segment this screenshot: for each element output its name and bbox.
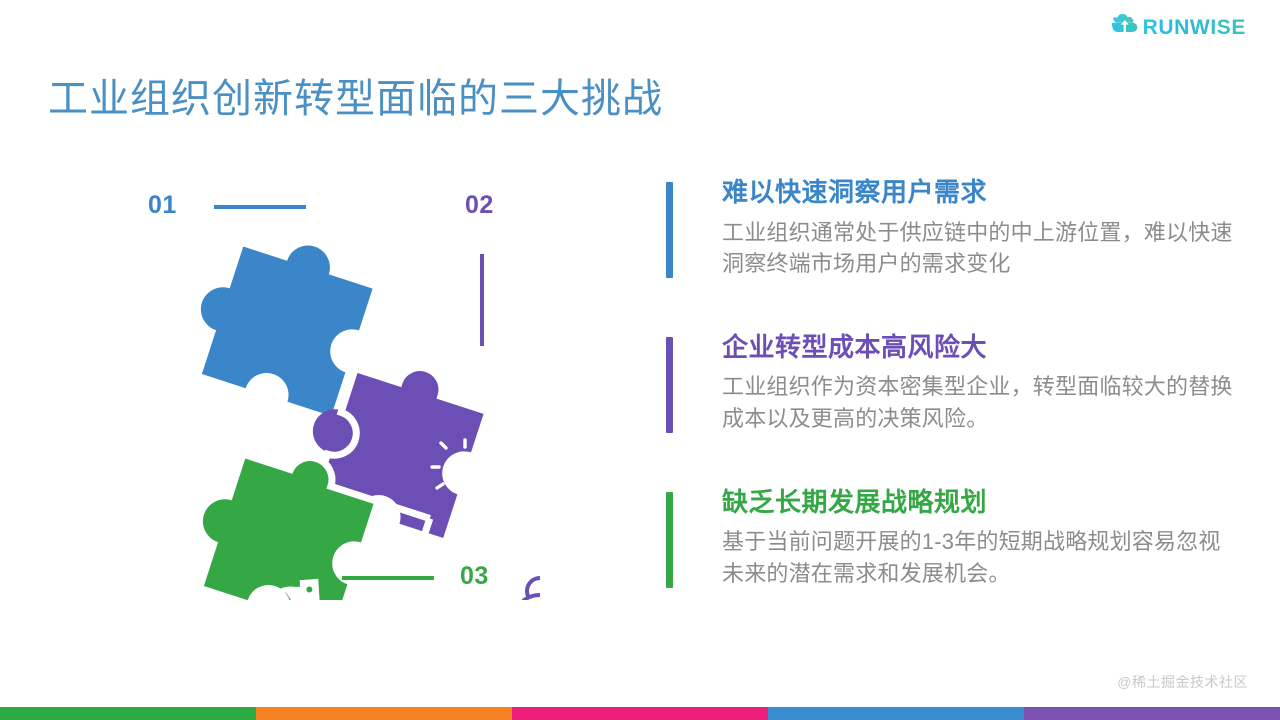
footer-segment-blue [768,707,1024,720]
accent-bar-01 [666,182,673,278]
footer-color-strip [0,707,1280,720]
footer-segment-green [0,707,256,720]
puzzle-number-02: 02 [465,193,494,218]
challenge-body-01: 工业组织通常处于供应链中的中上游位置，难以快速洞察终端市场用户的需求变化 [722,217,1234,279]
challenge-body-02: 工业组织作为资本密集型企业，转型面临较大的替换成本以及更高的决策风险。 [722,371,1234,433]
challenge-item-03: 缺乏长期发展战略规划 基于当前问题开展的1-3年的短期战略规划容易忽视未来的潜在… [666,486,1236,589]
slide: RUNWISE 工业组织创新转型面临的三大挑战 [0,0,1280,720]
accent-bar-02 [666,337,673,433]
challenge-title-01: 难以快速洞察用户需求 [722,176,1236,209]
brand-name: RUNWISE [1143,17,1246,38]
people-group-icon [500,572,540,600]
puzzle-number-01: 01 [148,193,177,218]
puzzle-number-03: 03 [460,564,489,589]
footer-segment-pink [512,707,768,720]
footer-segment-orange [256,707,512,720]
challenge-item-02: 企业转型成本高风险大 工业组织作为资本密集型企业，转型面临较大的替换成本以及更高… [666,331,1236,434]
challenge-title-02: 企业转型成本高风险大 [722,331,1236,364]
puzzle-rule-03 [342,576,434,580]
challenge-list: 难以快速洞察用户需求 工业组织通常处于供应链中的中上游位置，难以快速洞察终端市场… [666,176,1236,589]
footer-segment-purple [1024,707,1280,720]
watermark: @稀土掘金技术社区 [1117,672,1248,692]
accent-bar-03 [666,492,673,588]
puzzle-rule-01 [214,205,306,209]
puzzle-pieces-svg [120,180,540,600]
puzzle-rule-02 [480,254,484,346]
page-title: 工业组织创新转型面临的三大挑战 [48,75,663,123]
cloud-arrow-icon [1109,13,1139,42]
brand-logo: RUNWISE [1109,12,1246,42]
challenge-body-03: 基于当前问题开展的1-3年的短期战略规划容易忽视未来的潜在需求和发展机会。 [722,526,1234,588]
challenge-title-03: 缺乏长期发展战略规划 [722,486,1236,519]
challenge-item-01: 难以快速洞察用户需求 工业组织通常处于供应链中的中上游位置，难以快速洞察终端市场… [666,176,1236,279]
puzzle-graphic: 01 02 03 [120,180,540,600]
